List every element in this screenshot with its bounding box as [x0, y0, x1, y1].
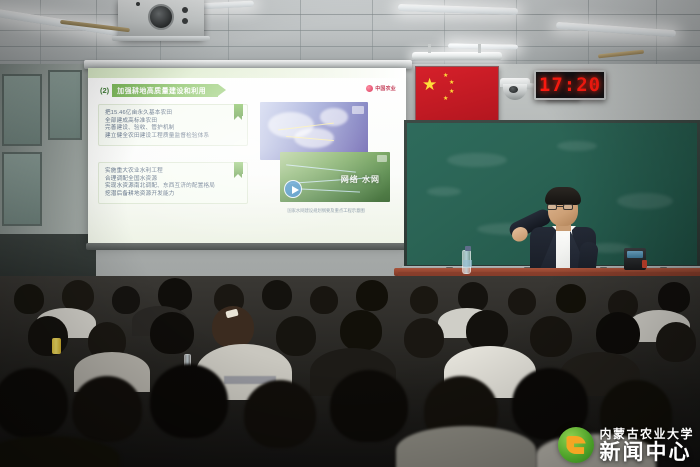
- presentation-slide: (2) 加强耕地高质量建设和利用 中国农业 把15.46亿亩永久基本农田 全部建…: [88, 68, 406, 244]
- image-label: 网络 水网: [341, 174, 380, 185]
- image-badge: [352, 106, 364, 114]
- lecturer-hair: [545, 187, 581, 205]
- window-pane: [2, 74, 42, 146]
- slide-top-band: [88, 68, 406, 78]
- window-pane: [48, 70, 82, 140]
- watermark: 内蒙古农业大学 新闻中心: [558, 427, 694, 463]
- camera-lens-icon: [509, 86, 518, 93]
- flag-star-small: ★: [443, 73, 448, 79]
- slide-text-line: 建立健全农田建设工程质量监督检验体系: [105, 133, 241, 141]
- lecturer-hand: [510, 224, 531, 244]
- projector-lens: [148, 4, 174, 30]
- slide-text-line: 实现水资源南北调配、东西互济的配置格局: [105, 183, 241, 191]
- water-bottle-on-podium: [462, 250, 471, 274]
- slide-text-line: 把15.46亿亩永久基本农田: [105, 110, 241, 118]
- slide-title-number: (2): [100, 86, 109, 95]
- slide-text-line: 实施重大农业水利工程: [105, 168, 241, 176]
- play-button-icon[interactable]: [284, 180, 302, 198]
- slide-title-ribbon: 加强耕地高质量建设和利用: [112, 84, 218, 97]
- lecture-hall-photo: (2) 加强耕地高质量建设和利用 中国农业 把15.46亿亩永久基本农田 全部建…: [0, 0, 700, 467]
- control-unit-button[interactable]: [642, 260, 647, 268]
- chinese-national-flag: ★ ★ ★ ★ ★: [415, 66, 499, 122]
- projection-screen-weight-bar: [86, 243, 408, 250]
- control-unit-display: [627, 251, 643, 258]
- dome-security-camera: [500, 78, 530, 100]
- slide-title: (2) 加强耕地高质量建设和利用: [100, 84, 218, 97]
- clock-time: 17:20: [539, 74, 601, 96]
- flag-star-small: ★: [449, 89, 454, 95]
- slide-text-block: 实施重大农业水利工程 合理调配全国水资源 实现水资源南北调配、东西互济的配置格局…: [98, 162, 248, 204]
- brand-name: 中国农业: [375, 85, 396, 92]
- flag-star-small: ★: [443, 96, 448, 102]
- slide-brand-logo: 中国农业: [366, 85, 396, 92]
- eyeglass-bridge: [557, 206, 563, 207]
- projection-screen: (2) 加强耕地高质量建设和利用 中国农业 把15.46亿亩永久基本农田 全部建…: [88, 68, 406, 244]
- eyeglass-lens-icon: [563, 204, 573, 210]
- flag-star-large: ★: [422, 76, 437, 93]
- brand-mark-icon: [366, 85, 373, 92]
- image-badge: [377, 155, 387, 162]
- slide-text-line: 完善建设、验收、管护机制: [105, 125, 241, 133]
- flag-spotlight: [412, 52, 502, 60]
- flag-star-small: ★: [449, 80, 454, 86]
- university-news-center-logo: [558, 427, 594, 463]
- watermark-university-name: 内蒙古农业大学: [599, 428, 694, 440]
- eyeglass-lens-icon: [547, 204, 557, 210]
- watermark-news-center: 新闻中心: [599, 442, 694, 463]
- podium-control-unit[interactable]: [624, 248, 646, 270]
- digital-clock: 17:20: [534, 70, 606, 100]
- slide-text-block: 把15.46亿亩永久基本农田 全部建成高标准农田 完善建设、验收、管护机制 建立…: [98, 104, 248, 146]
- ceiling-projector: [118, 0, 204, 38]
- slide-text-line: 挖潜后备耕地资源开发能力: [105, 191, 241, 199]
- window-pane: [2, 152, 42, 226]
- slide-title-text: 加强耕地高质量建设和利用: [117, 86, 206, 96]
- slide-image-caption: 国家水网建设规划纲要及重点工程示意图: [256, 208, 396, 214]
- projector-mount-bar: [112, 36, 210, 41]
- yellow-drink-bottle: [52, 338, 61, 354]
- slide-image-national-water-grid: 网络 水网: [280, 152, 390, 202]
